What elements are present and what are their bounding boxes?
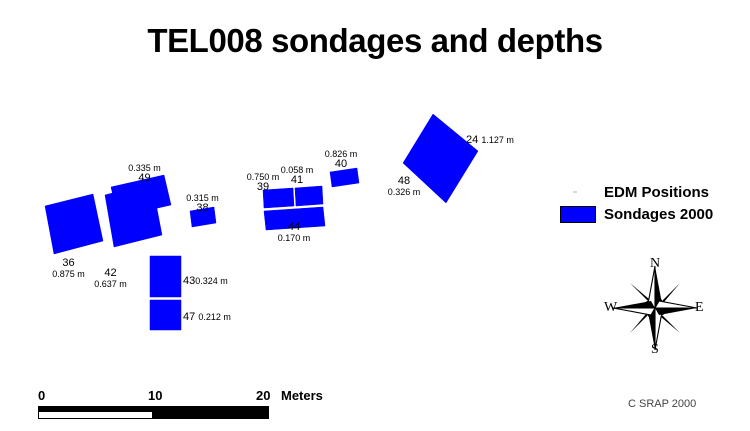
feature-id-47: 47: [183, 311, 195, 323]
feature-label-36: 36 0.875 m: [46, 258, 91, 279]
compass-label-east: E: [695, 300, 704, 316]
compass-label-north: N: [650, 256, 660, 272]
map-credit: C SRAP 2000: [628, 398, 696, 410]
feature-depth-47: 0.212 m: [198, 312, 231, 322]
feature-id-49: 49: [122, 173, 167, 185]
sondage-polygon-41[interactable]: [295, 186, 323, 206]
sondage-polygon-36[interactable]: [45, 194, 103, 254]
feature-id-36: 36: [46, 258, 91, 270]
feature-label-47: 47 0.212 m: [183, 312, 231, 324]
sondage-swatch-icon: [560, 206, 596, 223]
legend-label-edm: EDM Positions: [604, 184, 709, 201]
feature-depth-43: 0.324 m: [195, 276, 228, 286]
feature-label-49: 0.335 m 49: [122, 164, 167, 185]
feature-label-40: 0.826 m 40: [318, 150, 364, 171]
feature-label-43: 430.324 m: [183, 276, 228, 288]
edm-point-marker-icon: [560, 184, 596, 201]
feature-depth-48: 0.326 m: [381, 188, 427, 197]
feature-id-41: 41: [274, 175, 320, 187]
feature-id-42: 42: [88, 268, 133, 280]
feature-id-43: 43: [183, 275, 195, 287]
scale-bar-bottom-right-segment: [153, 412, 269, 419]
compass-rose: N S E W: [600, 256, 710, 361]
sondage-polygon-43[interactable]: [150, 256, 181, 297]
scale-tick-10: 10: [148, 388, 162, 403]
feature-id-38: 38: [180, 203, 225, 215]
sondage-polygon-47[interactable]: [150, 300, 181, 330]
feature-depth-44: 0.170 m: [271, 234, 317, 243]
scale-bar-graphic: [38, 406, 269, 419]
legend-label-sondages: Sondages 2000: [604, 206, 713, 223]
scale-tick-0: 0: [38, 388, 45, 403]
feature-depth-24: 1.127 m: [481, 135, 514, 145]
feature-id-48: 48: [381, 176, 427, 188]
feature-label-48: 48 0.326 m: [381, 176, 427, 197]
scale-bar-ticks: 0 10 20 Meters: [38, 388, 338, 404]
map-canvas: TEL008 sondages and depths 36 0.875 m: [0, 0, 750, 431]
feature-id-40: 40: [318, 159, 364, 171]
feature-label-44: 44 0.170 m: [271, 222, 317, 243]
scale-bar: 0 10 20 Meters: [38, 388, 338, 419]
compass-label-south: S: [651, 342, 659, 358]
scale-tick-20: 20: [256, 388, 270, 403]
map-legend: EDM Positions Sondages 2000: [560, 181, 740, 225]
feature-label-38: 0.315 m 38: [180, 194, 225, 215]
scale-bar-bottom-left-segment: [38, 412, 153, 419]
legend-item-sondages-2000[interactable]: Sondages 2000: [560, 203, 740, 225]
feature-id-24: 24: [466, 134, 478, 146]
feature-depth-36: 0.875 m: [46, 270, 91, 279]
legend-item-edm-positions[interactable]: EDM Positions: [560, 181, 740, 203]
compass-label-west: W: [604, 300, 617, 316]
feature-label-42: 42 0.637 m: [88, 268, 133, 289]
scale-units-label: Meters: [281, 388, 323, 403]
feature-label-41: 0.058 m 41: [274, 166, 320, 187]
feature-id-44: 44: [271, 222, 317, 234]
feature-label-24: 24 1.127 m: [466, 135, 514, 147]
feature-depth-42: 0.637 m: [88, 280, 133, 289]
